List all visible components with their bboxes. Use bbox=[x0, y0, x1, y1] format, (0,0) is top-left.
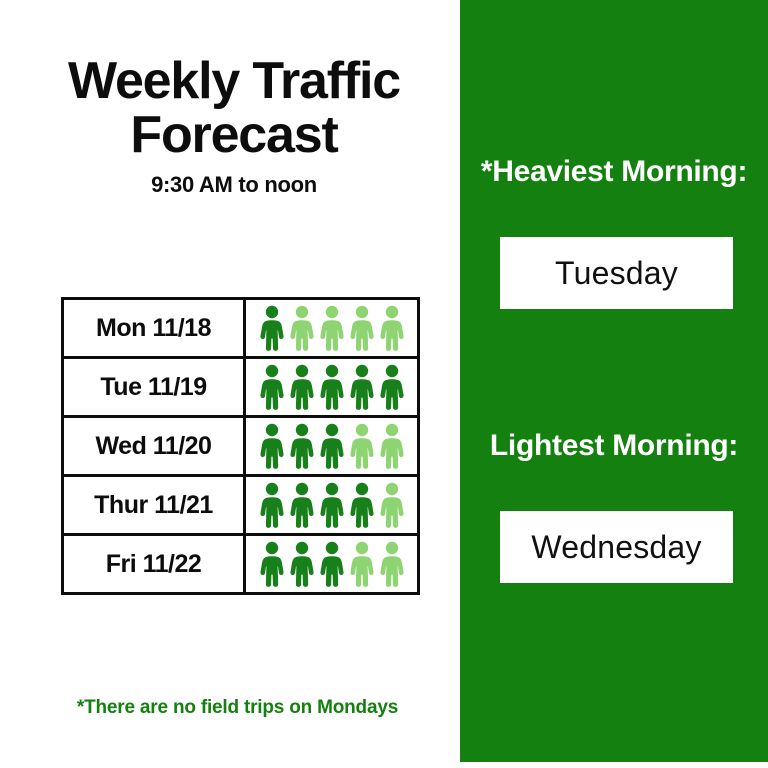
icon-cell-thur bbox=[245, 476, 419, 535]
person-icon bbox=[348, 305, 376, 351]
day-label-thur: Thur 11/21 bbox=[63, 476, 245, 535]
lightest-morning-value: Wednesday bbox=[531, 529, 701, 566]
person-icon bbox=[378, 541, 406, 587]
person-icon bbox=[258, 364, 286, 410]
person-icon bbox=[318, 305, 346, 351]
traffic-forecast-table: Mon 11/18 Tue 11/19 Wed 11/20 Thur 11/21 bbox=[61, 297, 420, 595]
page-title: Weekly Traffic Forecast bbox=[14, 55, 454, 162]
person-icon bbox=[318, 423, 346, 469]
lightest-morning-box: Wednesday bbox=[500, 511, 733, 583]
icon-cell-wed bbox=[245, 417, 419, 476]
person-icon bbox=[318, 541, 346, 587]
table-row: Fri 11/22 bbox=[63, 535, 419, 594]
heaviest-morning-label: *Heaviest Morning: bbox=[460, 156, 768, 188]
person-icon bbox=[348, 364, 376, 410]
person-icon bbox=[318, 482, 346, 528]
heaviest-morning-value: Tuesday bbox=[555, 255, 678, 292]
person-icon bbox=[378, 423, 406, 469]
person-icon bbox=[288, 364, 316, 410]
day-label-wed: Wed 11/20 bbox=[63, 417, 245, 476]
person-icon bbox=[288, 423, 316, 469]
person-icon bbox=[258, 541, 286, 587]
table-row: Tue 11/19 bbox=[63, 358, 419, 417]
infographic-canvas: Weekly Traffic Forecast 9:30 AM to noon … bbox=[0, 0, 768, 768]
heaviest-morning-box: Tuesday bbox=[500, 237, 733, 309]
person-icon bbox=[348, 541, 376, 587]
lightest-morning-label: Lightest Morning: bbox=[460, 430, 768, 462]
icon-row-wed bbox=[246, 423, 417, 469]
person-icon bbox=[378, 305, 406, 351]
person-icon bbox=[348, 482, 376, 528]
person-icon bbox=[378, 364, 406, 410]
icon-cell-mon bbox=[245, 299, 419, 358]
day-label-tue: Tue 11/19 bbox=[63, 358, 245, 417]
footnote-text: *There are no field trips on Mondays bbox=[30, 697, 445, 719]
summary-panel: *Heaviest Morning: Tuesday Lightest Morn… bbox=[460, 0, 768, 762]
person-icon bbox=[288, 305, 316, 351]
person-icon bbox=[258, 482, 286, 528]
day-label-mon: Mon 11/18 bbox=[63, 299, 245, 358]
page-subtitle: 9:30 AM to noon bbox=[14, 172, 454, 198]
icon-row-mon bbox=[246, 305, 417, 351]
table-body: Mon 11/18 Tue 11/19 Wed 11/20 Thur 11/21 bbox=[63, 299, 419, 594]
icon-cell-fri bbox=[245, 535, 419, 594]
icon-cell-tue bbox=[245, 358, 419, 417]
person-icon bbox=[288, 482, 316, 528]
day-label-fri: Fri 11/22 bbox=[63, 535, 245, 594]
icon-row-fri bbox=[246, 541, 417, 587]
person-icon bbox=[378, 482, 406, 528]
person-icon bbox=[258, 305, 286, 351]
person-icon bbox=[258, 423, 286, 469]
table-row: Wed 11/20 bbox=[63, 417, 419, 476]
person-icon bbox=[318, 364, 346, 410]
table-row: Mon 11/18 bbox=[63, 299, 419, 358]
person-icon bbox=[288, 541, 316, 587]
person-icon bbox=[348, 423, 376, 469]
icon-row-tue bbox=[246, 364, 417, 410]
icon-row-thur bbox=[246, 482, 417, 528]
table-row: Thur 11/21 bbox=[63, 476, 419, 535]
